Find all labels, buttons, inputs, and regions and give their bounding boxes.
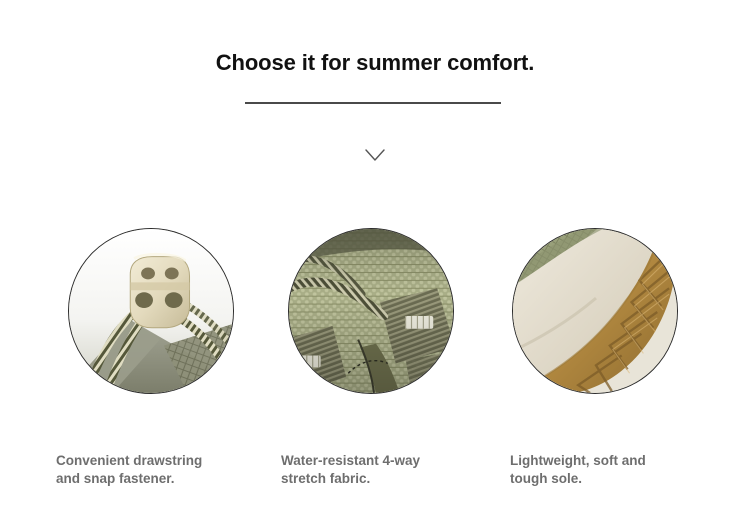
feature-image-circle-1 bbox=[68, 228, 234, 394]
feature-image-circle-2 bbox=[288, 228, 454, 394]
feature-caption-drawstring: Convenient drawstring and snap fastener. bbox=[56, 452, 266, 488]
feature-caption-stretch-fabric: Water-resistant 4-way stretch fabric. bbox=[281, 452, 496, 488]
feature-banner: Choose it for summer comfort. bbox=[0, 0, 750, 521]
chevron-down-icon bbox=[0, 144, 750, 166]
sole-photo bbox=[513, 229, 677, 393]
feature-item-sole[interactable] bbox=[512, 228, 678, 394]
feature-image-row bbox=[0, 228, 750, 408]
page-title: Choose it for summer comfort. bbox=[0, 50, 750, 76]
feature-item-drawstring[interactable] bbox=[68, 228, 234, 394]
feature-caption-sole: Lightweight, soft and tough sole. bbox=[510, 452, 725, 488]
feature-caption-row: Convenient drawstring and snap fastener.… bbox=[0, 452, 750, 512]
feature-item-stretch-fabric[interactable] bbox=[288, 228, 454, 394]
drawstring-photo bbox=[69, 229, 233, 393]
feature-image-circle-3 bbox=[512, 228, 678, 394]
title-divider bbox=[245, 102, 501, 104]
stretch-fabric-photo bbox=[289, 229, 453, 393]
